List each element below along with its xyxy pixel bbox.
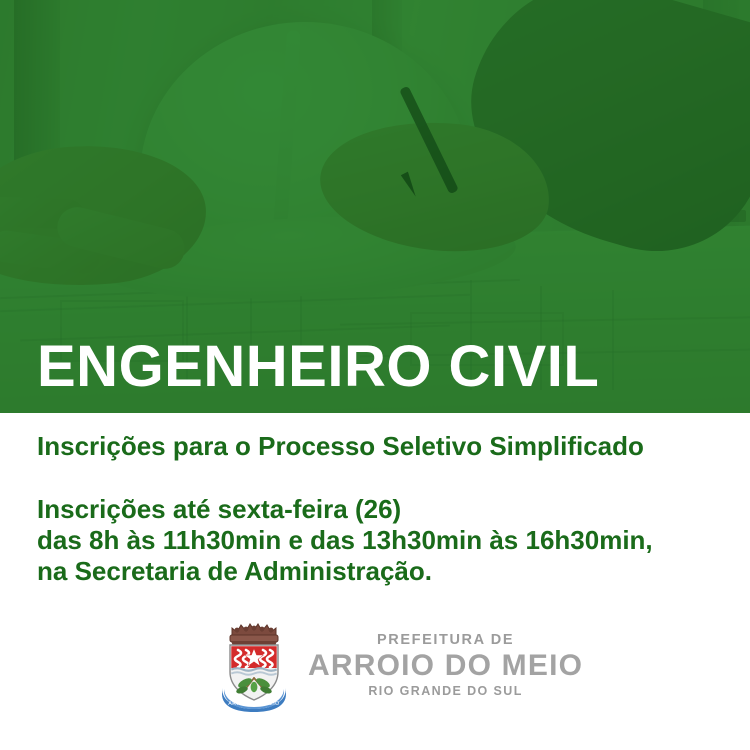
shield-icon [230,645,278,700]
announcement-subtitle: Inscrições para o Processo Seletivo Simp… [37,430,727,462]
logo-line-prefeitura: PREFEITURA DE [308,632,583,649]
detail-line-hours: das 8h às 11h30min e das 13h30min às 16h… [37,525,727,556]
logo-line-state: RIO GRANDE DO SUL [308,683,583,699]
page-title: ENGENHEIRO CIVIL [37,336,599,398]
city-hall-logo: ARROIO DO MEIO PREFEITURA DE ARROIO DO M… [218,616,583,712]
announcement-text-block: Inscrições para o Processo Seletivo Simp… [37,430,727,587]
announcement-details: Inscrições até sexta-feira (26) das 8h à… [37,462,727,587]
coat-of-arms-icon: ARROIO DO MEIO [218,616,290,712]
logo-line-city: ARROIO DO MEIO [308,649,583,683]
detail-line-deadline: Inscrições até sexta-feira (26) [37,494,727,525]
hero-banner: ENGENHEIRO CIVIL [0,0,750,413]
poster-canvas: ENGENHEIRO CIVIL Inscrições para o Proce… [0,0,750,750]
crown-icon [230,624,278,646]
logo-wordmark: PREFEITURA DE ARROIO DO MEIO RIO GRANDE … [308,630,583,699]
detail-line-location: na Secretaria de Administração. [37,556,727,587]
ribbon-text: ARROIO DO MEIO [228,701,279,707]
